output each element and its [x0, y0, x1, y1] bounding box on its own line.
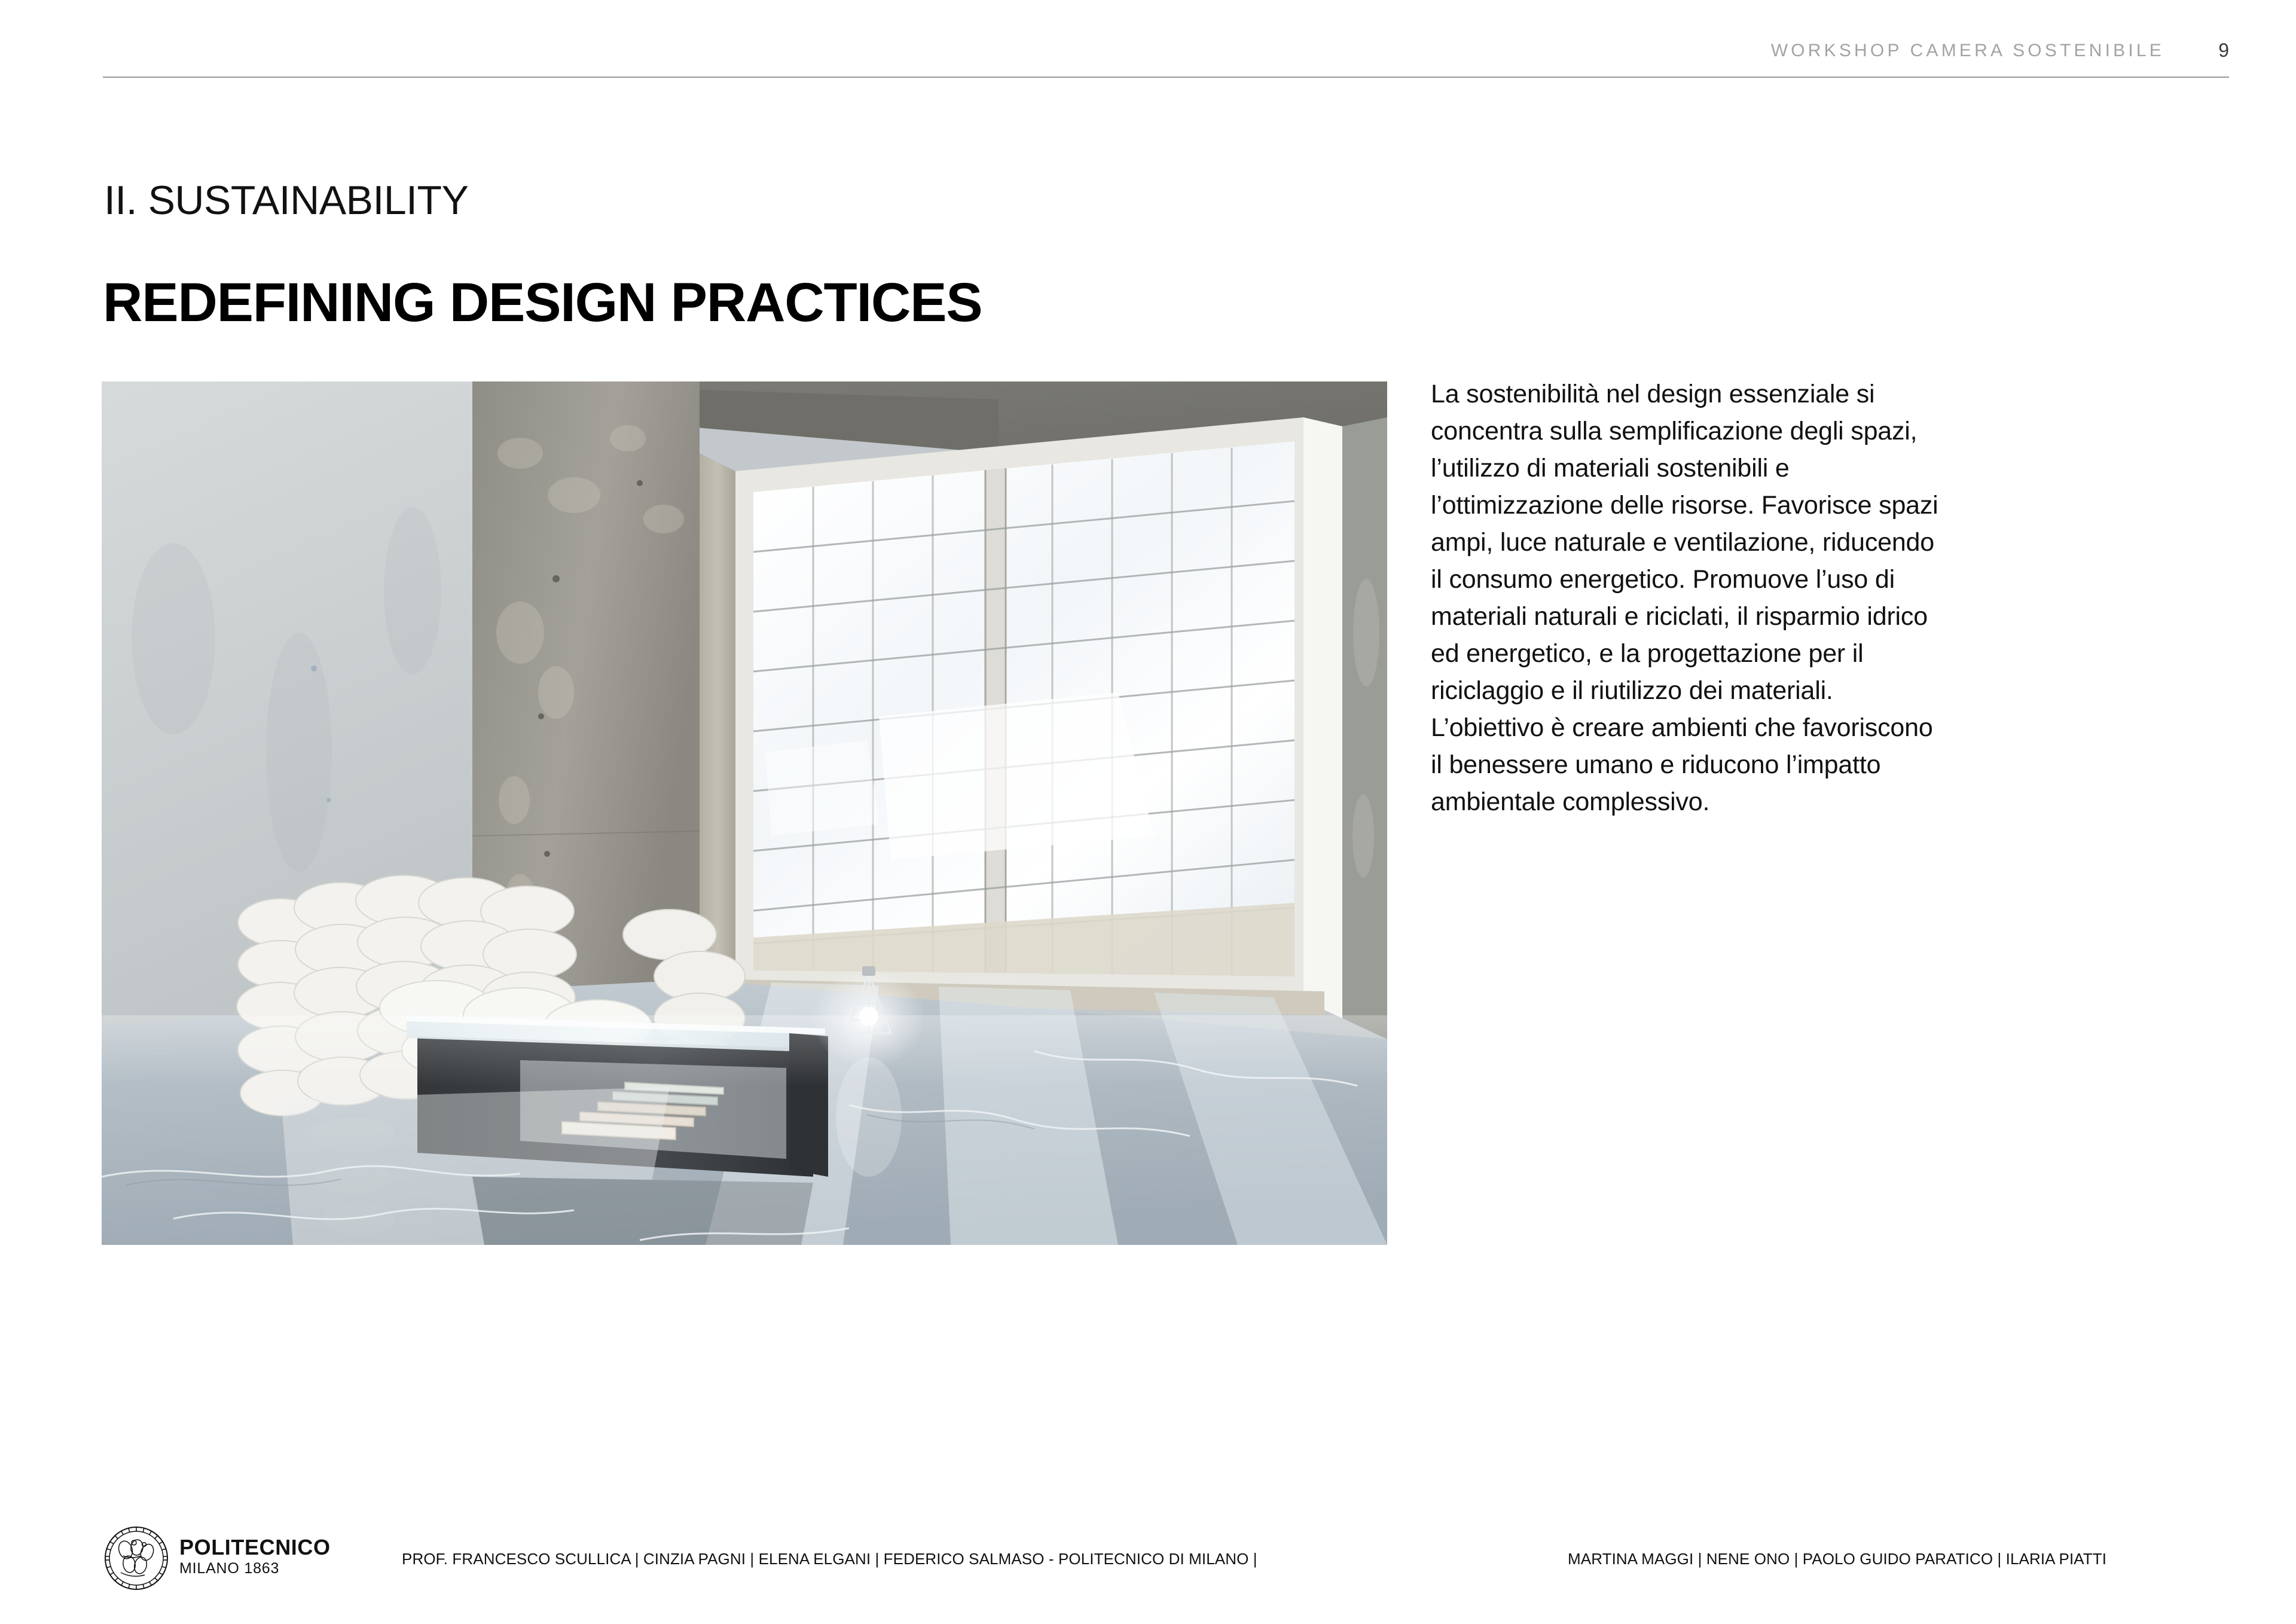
slide-footer: POLITECNICO MILANO 1863 PROF. FRANCESCO … [0, 1507, 2296, 1624]
credits-right: MARTINA MAGGI | NENE ONO | PAOLO GUIDO P… [1568, 1550, 2106, 1568]
page-title: REDEFINING DESIGN PRACTICES [103, 271, 982, 334]
body-paragraph: La sostenibilità nel design essenziale s… [1431, 376, 1939, 820]
section-eyebrow: II. SUSTAINABILITY [104, 177, 468, 224]
header-divider [103, 77, 2229, 78]
logo-name: POLITECNICO [179, 1536, 331, 1559]
credits-left: PROF. FRANCESCO SCULLICA | CINZIA PAGNI … [402, 1550, 1257, 1568]
politecnico-logo: POLITECNICO MILANO 1863 [103, 1525, 366, 1602]
slide-header: WORKSHOP CAMERA SOSTENIBILE 9 [103, 36, 2229, 79]
interior-photograph [102, 381, 1387, 1245]
logo-subtitle: MILANO 1863 [179, 1559, 331, 1577]
interior-photo-illustration [102, 381, 1387, 1245]
page-number: 9 [2218, 39, 2229, 62]
politecnico-seal-icon [103, 1525, 170, 1592]
politecnico-wordmark: POLITECNICO MILANO 1863 [179, 1536, 331, 1577]
header-title: WORKSHOP CAMERA SOSTENIBILE [1771, 41, 2164, 61]
